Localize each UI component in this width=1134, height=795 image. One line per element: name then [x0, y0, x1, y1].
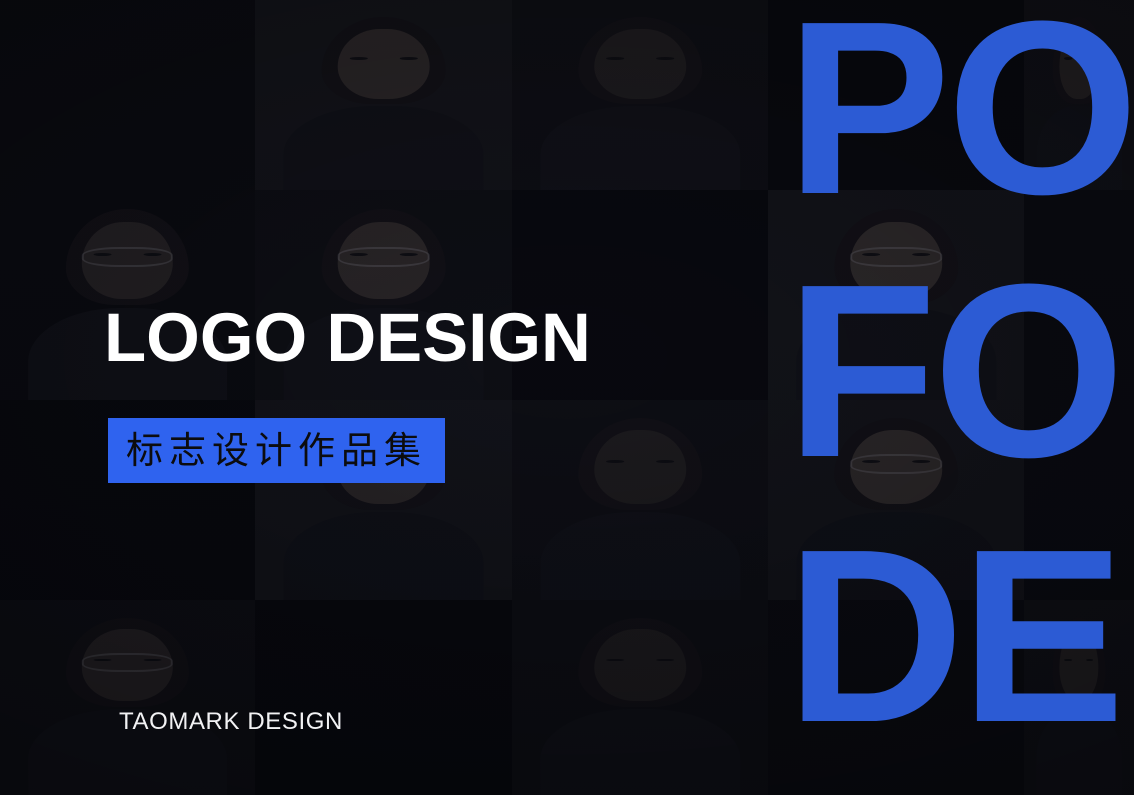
poster-canvas: PO FO DE LOGO DESIGN 标志设计作品集 TAOMARK DES… [0, 0, 1134, 795]
portrait-eye-left [606, 57, 624, 60]
portrait-figure [540, 600, 740, 795]
portrait-figure [540, 0, 740, 190]
portrait-torso [540, 512, 740, 600]
photo-r1c3 [512, 0, 768, 190]
portrait-head [1059, 629, 1098, 701]
portrait-torso [1036, 106, 1122, 190]
portrait-glasses-icon [850, 454, 942, 474]
portrait-head [594, 629, 686, 701]
subtitle-badge-label: 标志设计作品集 [126, 432, 427, 469]
portrait-figure [796, 190, 996, 400]
portrait-eye-right [656, 57, 674, 60]
photo-r2c4 [768, 190, 1024, 400]
subtitle-badge: 标志设计作品集 [108, 418, 445, 483]
photo-r3c4 [768, 400, 1024, 600]
portrait-eye-right [400, 57, 418, 60]
portrait-torso [796, 308, 996, 400]
portrait-figure [1036, 0, 1122, 190]
photo-r3c5 [1024, 400, 1134, 600]
portrait-figure [540, 400, 740, 600]
photo-r1c2 [255, 0, 512, 190]
portrait-glasses-icon [337, 247, 429, 268]
portrait-glasses-icon [850, 247, 942, 268]
photo-r4c2 [255, 600, 512, 795]
page-title: LOGO DESIGN [104, 303, 591, 372]
portrait-figure [796, 400, 996, 600]
portrait-torso [283, 106, 483, 190]
portrait-glasses-icon [82, 247, 174, 268]
photo-r1c5 [1024, 0, 1134, 190]
portrait-head [337, 29, 429, 99]
photo-r3c3 [512, 400, 768, 600]
portrait-eye-left [606, 460, 624, 463]
photo-r4c3 [512, 600, 768, 795]
portrait-torso [796, 512, 996, 600]
photo-r4c4 [768, 600, 1024, 795]
portrait-figure [283, 0, 483, 190]
portrait-torso [283, 512, 483, 600]
portrait-eye-right [1086, 57, 1094, 60]
portrait-torso [1036, 709, 1122, 795]
portrait-glasses-icon [82, 653, 174, 673]
photo-r2c5 [1024, 190, 1134, 400]
portrait-eye-left [1064, 659, 1072, 662]
portrait-figure [1036, 600, 1122, 795]
photo-r1c1 [0, 0, 255, 190]
photo-r4c1 [0, 600, 255, 795]
portrait-torso [540, 106, 740, 190]
portrait-torso [540, 709, 740, 795]
photo-r4c5 [1024, 600, 1134, 795]
portrait-eye-left [606, 659, 624, 662]
photo-r1c4 [768, 0, 1024, 190]
portrait-head [1059, 29, 1098, 99]
brand-name: TAOMARK DESIGN [119, 708, 343, 736]
portrait-eye-left [1064, 57, 1072, 60]
portrait-eye-right [656, 659, 674, 662]
portrait-figure [28, 600, 227, 795]
portrait-eye-left [349, 57, 367, 60]
portrait-head [594, 29, 686, 99]
portrait-eye-right [656, 460, 674, 463]
portrait-head [594, 430, 686, 504]
photo-mosaic [0, 0, 1134, 795]
